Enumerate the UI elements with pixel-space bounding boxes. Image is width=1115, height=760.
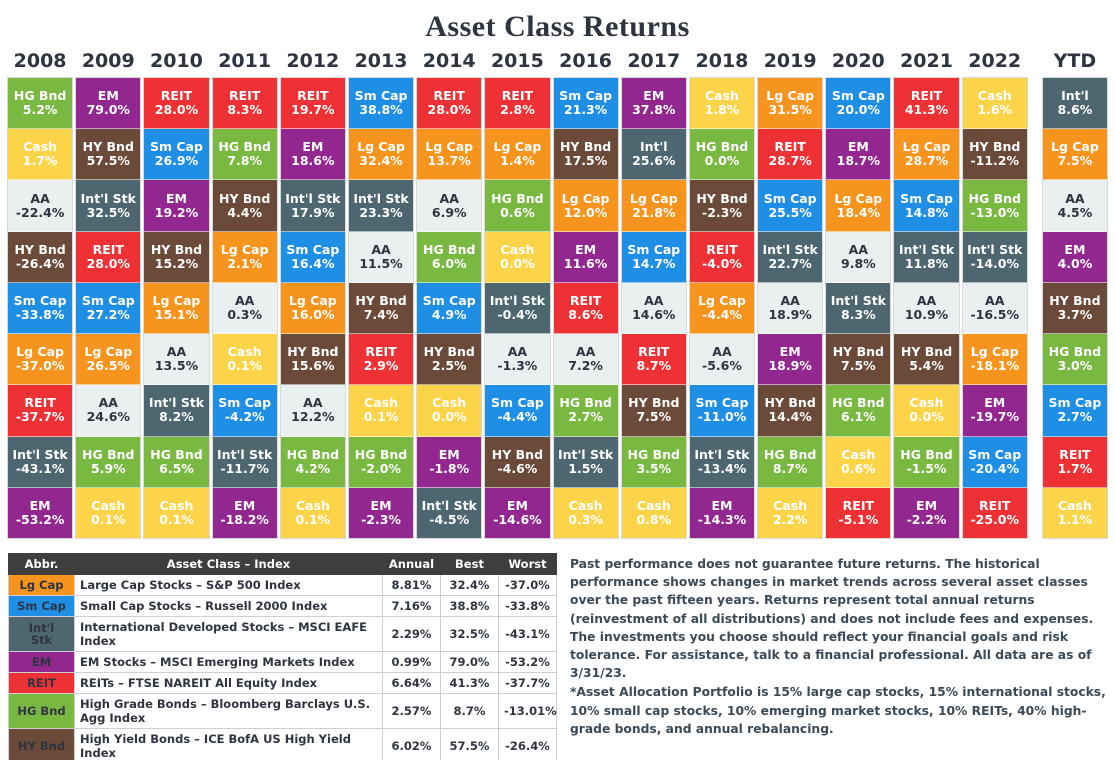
cell-2019-rank-3[interactable]: Sm Cap25.5% — [758, 180, 822, 231]
cell-value: 16.4% — [291, 257, 334, 271]
cell-2020-rank-3[interactable]: Lg Cap18.4% — [826, 180, 890, 231]
cell-value: -19.7% — [970, 410, 1019, 424]
cell-2013-rank-8[interactable]: HG Bnd-2.0% — [349, 437, 413, 488]
cell-2018-rank-4[interactable]: REIT-4.0% — [690, 232, 754, 283]
cell-2016-rank-5[interactable]: REIT8.6% — [554, 283, 618, 334]
cell-2022-rank-3[interactable]: HG Bnd-13.0% — [963, 180, 1027, 231]
cell-2021-rank-6[interactable]: HY Bnd5.4% — [894, 334, 958, 385]
cell-2015-rank-9[interactable]: EM-14.6% — [485, 488, 549, 538]
cell-value: 26.5% — [87, 359, 130, 373]
cell-2013-rank-1[interactable]: Sm Cap38.8% — [349, 78, 413, 129]
cell-abbr: HY Bnd — [1049, 294, 1100, 308]
cell-2015-rank-8[interactable]: HY Bnd-4.6% — [485, 437, 549, 488]
cell-abbr: REIT — [434, 89, 465, 103]
legend-asset-name: High Grade Bonds – Bloomberg Barclays U.… — [75, 694, 383, 729]
cell-abbr: Int'l Stk — [967, 243, 1022, 257]
cell-2009-rank-7[interactable]: AA24.6% — [76, 385, 140, 436]
year-header-2022: 2022 — [961, 50, 1029, 72]
cell-2010-rank-7[interactable]: Int'l Stk8.2% — [144, 385, 208, 436]
cell-2015-rank-5[interactable]: Int'l Stk-0.4% — [485, 283, 549, 334]
cell-abbr: Cash — [773, 499, 807, 513]
cell-2018-rank-3[interactable]: HY Bnd-2.3% — [690, 180, 754, 231]
cell-abbr: HG Bnd — [355, 448, 407, 462]
cell-abbr: HG Bnd — [559, 396, 611, 410]
cell-value: 26.9% — [155, 154, 198, 168]
cell-value: -4.6% — [497, 462, 537, 476]
cell-2018-rank-2[interactable]: HG Bnd0.0% — [690, 129, 754, 180]
cell-2009-rank-6[interactable]: Lg Cap26.5% — [76, 334, 140, 385]
cell-2012-rank-1[interactable]: REIT19.7% — [281, 78, 345, 129]
cell-value: -37.0% — [16, 359, 65, 373]
cell-2020-rank-9[interactable]: REIT-5.1% — [826, 488, 890, 538]
legend-best-return: 79.0% — [441, 652, 499, 673]
cell-2022-rank-6[interactable]: Lg Cap-18.1% — [963, 334, 1027, 385]
cell-2022-rank-5[interactable]: AA-16.5% — [963, 283, 1027, 334]
cell-2018-rank-7[interactable]: Sm Cap-11.0% — [690, 385, 754, 436]
cell-2010-rank-8[interactable]: HG Bnd6.5% — [144, 437, 208, 488]
year-header-2021: 2021 — [892, 50, 960, 72]
cell-2016-rank-9[interactable]: Cash0.3% — [554, 488, 618, 538]
cell-2020-rank-8[interactable]: Cash0.6% — [826, 437, 890, 488]
legend-row: Sm CapSmall Cap Stocks – Russell 2000 In… — [9, 596, 557, 617]
cell-value: 8.7% — [773, 462, 808, 476]
cell-abbr: Int'l Stk — [81, 192, 136, 206]
cell-2016-rank-3[interactable]: Lg Cap12.0% — [554, 180, 618, 231]
legend-header-best: Best — [441, 554, 499, 575]
cell-2011-rank-5[interactable]: AA0.3% — [213, 283, 277, 334]
cell-2008-rank-8[interactable]: Int'l Stk-43.1% — [8, 437, 72, 488]
cell-abbr: EM — [98, 89, 119, 103]
cell-value: 15.6% — [291, 359, 334, 373]
cell-abbr: Sm Cap — [764, 192, 817, 206]
cell-value: 17.9% — [291, 206, 334, 220]
cell-YTD-rank-6[interactable]: HG Bnd3.0% — [1043, 334, 1107, 385]
legend-asset-name: EM Stocks – MSCI Emerging Markets Index — [75, 652, 383, 673]
cell-value: 1.7% — [1058, 462, 1093, 476]
cell-value: 8.3% — [227, 103, 262, 117]
cell-value: 4.9% — [432, 308, 467, 322]
grid-column-2020: Sm Cap20.0%EM18.7%Lg Cap18.4%AA9.8%Int'l… — [825, 77, 891, 539]
cell-abbr: HY Bnd — [355, 294, 406, 308]
cell-2017-rank-9[interactable]: Cash0.8% — [622, 488, 686, 538]
cell-2009-rank-3[interactable]: Int'l Stk32.5% — [76, 180, 140, 231]
cell-2010-rank-9[interactable]: Cash0.1% — [144, 488, 208, 538]
cell-value: 4.4% — [227, 206, 262, 220]
cell-2012-rank-5[interactable]: Lg Cap16.0% — [281, 283, 345, 334]
cell-2010-rank-1[interactable]: REIT28.0% — [144, 78, 208, 129]
cell-abbr: Int'l Stk — [353, 192, 408, 206]
cell-abbr: REIT — [24, 396, 55, 410]
grid-column-2016: Sm Cap21.3%HY Bnd17.5%Lg Cap12.0%EM11.6%… — [553, 77, 619, 539]
cell-value: 28.0% — [155, 103, 198, 117]
cell-2010-rank-4[interactable]: HY Bnd15.2% — [144, 232, 208, 283]
cell-abbr: EM — [1064, 243, 1085, 257]
cell-2019-rank-2[interactable]: REIT28.7% — [758, 129, 822, 180]
cell-2013-rank-4[interactable]: AA11.5% — [349, 232, 413, 283]
cell-value: 2.7% — [1058, 410, 1093, 424]
cell-abbr: Lg Cap — [1051, 140, 1099, 154]
cell-value: 3.0% — [1058, 359, 1093, 373]
cell-2012-rank-6[interactable]: HY Bnd15.6% — [281, 334, 345, 385]
cell-2009-rank-9[interactable]: Cash0.1% — [76, 488, 140, 538]
cell-2011-rank-3[interactable]: HY Bnd4.4% — [213, 180, 277, 231]
cell-2012-rank-4[interactable]: Sm Cap16.4% — [281, 232, 345, 283]
cell-2012-rank-9[interactable]: Cash0.1% — [281, 488, 345, 538]
cell-value: 0.1% — [296, 513, 331, 527]
cell-value: 31.5% — [768, 103, 811, 117]
cell-2017-rank-3[interactable]: Lg Cap21.8% — [622, 180, 686, 231]
cell-value: -16.5% — [970, 308, 1019, 322]
year-header-2018: 2018 — [688, 50, 756, 72]
cell-2019-rank-9[interactable]: Cash2.2% — [758, 488, 822, 538]
cell-2018-rank-1[interactable]: Cash1.8% — [690, 78, 754, 129]
cell-2020-rank-4[interactable]: AA9.8% — [826, 232, 890, 283]
cell-2016-rank-7[interactable]: HG Bnd2.7% — [554, 385, 618, 436]
cell-2020-rank-1[interactable]: Sm Cap20.0% — [826, 78, 890, 129]
cell-2009-rank-8[interactable]: HG Bnd5.9% — [76, 437, 140, 488]
cell-abbr: Sm Cap — [900, 192, 953, 206]
cell-abbr: Cash — [910, 396, 944, 410]
cell-2017-rank-7[interactable]: HY Bnd7.5% — [622, 385, 686, 436]
cell-value: 14.7% — [632, 257, 675, 271]
cell-2020-rank-5[interactable]: Int'l Stk8.3% — [826, 283, 890, 334]
cell-abbr: Sm Cap — [355, 89, 408, 103]
cell-2021-rank-7[interactable]: Cash0.0% — [894, 385, 958, 436]
cell-abbr: AA — [303, 396, 322, 410]
cell-value: -4.5% — [429, 513, 469, 527]
cell-2021-rank-5[interactable]: AA10.9% — [894, 283, 958, 334]
legend-annual-return: 0.99% — [383, 652, 441, 673]
cell-value: 5.9% — [91, 462, 126, 476]
cell-value: 15.2% — [155, 257, 198, 271]
cell-2018-rank-5[interactable]: Lg Cap-4.4% — [690, 283, 754, 334]
cell-abbr: HG Bnd — [82, 448, 134, 462]
cell-2020-rank-6[interactable]: HY Bnd7.5% — [826, 334, 890, 385]
cell-2019-rank-1[interactable]: Lg Cap31.5% — [758, 78, 822, 129]
legend-header-annual: Annual — [383, 554, 441, 575]
cell-value: 32.4% — [359, 154, 402, 168]
disclaimer-paragraph-1: Past performance does not guarantee futu… — [570, 555, 1107, 682]
cell-2013-rank-6[interactable]: REIT2.9% — [349, 334, 413, 385]
cell-2018-rank-6[interactable]: AA-5.6% — [690, 334, 754, 385]
cell-2021-rank-3[interactable]: Sm Cap14.8% — [894, 180, 958, 231]
cell-value: -14.6% — [493, 513, 542, 527]
cell-value: 7.5% — [1058, 154, 1093, 168]
cell-value: 2.9% — [364, 359, 399, 373]
cell-2011-rank-4[interactable]: Lg Cap2.1% — [213, 232, 277, 283]
cell-2012-rank-2[interactable]: EM18.6% — [281, 129, 345, 180]
year-header-2015: 2015 — [483, 50, 551, 72]
cell-2015-rank-6[interactable]: AA-1.3% — [485, 334, 549, 385]
cell-2008-rank-5[interactable]: Sm Cap-33.8% — [8, 283, 72, 334]
cell-YTD-rank-2[interactable]: Lg Cap7.5% — [1043, 129, 1107, 180]
cell-value: -20.4% — [970, 462, 1019, 476]
cell-2014-rank-2[interactable]: Lg Cap13.7% — [417, 129, 481, 180]
cell-value: -4.2% — [225, 410, 265, 424]
cell-abbr: HG Bnd — [696, 140, 748, 154]
legend-best-return: 32.5% — [441, 617, 499, 652]
cell-2017-rank-4[interactable]: Sm Cap14.7% — [622, 232, 686, 283]
cell-2011-rank-8[interactable]: Int'l Stk-11.7% — [213, 437, 277, 488]
cell-abbr: REIT — [93, 243, 124, 257]
cell-2021-rank-9[interactable]: EM-2.2% — [894, 488, 958, 538]
cell-2009-rank-4[interactable]: REIT28.0% — [76, 232, 140, 283]
cell-2009-rank-5[interactable]: Sm Cap27.2% — [76, 283, 140, 334]
cell-2008-rank-1[interactable]: HG Bnd5.2% — [8, 78, 72, 129]
cell-value: 24.6% — [87, 410, 130, 424]
cell-value: 32.5% — [87, 206, 130, 220]
cell-abbr: HG Bnd — [900, 448, 952, 462]
cell-2015-rank-1[interactable]: REIT2.8% — [485, 78, 549, 129]
cell-2015-rank-7[interactable]: Sm Cap-4.4% — [485, 385, 549, 436]
cell-2009-rank-2[interactable]: HY Bnd57.5% — [76, 129, 140, 180]
cell-abbr: Lg Cap — [221, 243, 269, 257]
cell-2019-rank-4[interactable]: Int'l Stk22.7% — [758, 232, 822, 283]
cell-YTD-rank-1[interactable]: Int'l8.6% — [1043, 78, 1107, 129]
cell-2016-rank-8[interactable]: Int'l Stk1.5% — [554, 437, 618, 488]
cell-value: -26.4% — [16, 257, 65, 271]
cell-YTD-rank-7[interactable]: Sm Cap2.7% — [1043, 385, 1107, 436]
cell-value: 3.7% — [1058, 308, 1093, 322]
cell-abbr: Lg Cap — [562, 192, 610, 206]
cell-value: -0.4% — [497, 308, 537, 322]
cell-value: 4.2% — [296, 462, 331, 476]
cell-value: -4.0% — [702, 257, 742, 271]
cell-value: 0.3% — [568, 513, 603, 527]
cell-abbr: HY Bnd — [628, 396, 679, 410]
cell-abbr: REIT — [911, 89, 942, 103]
cell-2015-rank-4[interactable]: Cash0.0% — [485, 232, 549, 283]
cell-2012-rank-7[interactable]: AA12.2% — [281, 385, 345, 436]
cell-value: 2.5% — [432, 359, 467, 373]
cell-2020-rank-7[interactable]: HG Bnd6.1% — [826, 385, 890, 436]
cell-2022-rank-1[interactable]: Cash1.6% — [963, 78, 1027, 129]
cell-abbr: Sm Cap — [423, 294, 476, 308]
cell-2013-rank-5[interactable]: HY Bnd7.4% — [349, 283, 413, 334]
cell-abbr: HG Bnd — [1049, 345, 1101, 359]
grid-column-2014: REIT28.0%Lg Cap13.7%AA6.9%HG Bnd6.0%Sm C… — [416, 77, 482, 539]
cell-2008-rank-2[interactable]: Cash1.7% — [8, 129, 72, 180]
cell-2016-rank-2[interactable]: HY Bnd17.5% — [554, 129, 618, 180]
cell-abbr: HY Bnd — [696, 192, 747, 206]
cell-abbr: HG Bnd — [14, 89, 66, 103]
cell-2014-rank-3[interactable]: AA6.9% — [417, 180, 481, 231]
cell-2015-rank-2[interactable]: Lg Cap1.4% — [485, 129, 549, 180]
cell-abbr: EM — [984, 396, 1005, 410]
year-header-2012: 2012 — [279, 50, 347, 72]
cell-2015-rank-3[interactable]: HG Bnd0.6% — [485, 180, 549, 231]
legend-row: REITREITs – FTSE NAREIT All Equity Index… — [9, 673, 557, 694]
cell-value: -22.4% — [16, 206, 65, 220]
cell-2011-rank-9[interactable]: EM-18.2% — [213, 488, 277, 538]
cell-value: -18.1% — [970, 359, 1019, 373]
cell-2021-rank-8[interactable]: HG Bnd-1.5% — [894, 437, 958, 488]
cell-abbr: EM — [30, 499, 51, 513]
cell-YTD-rank-4[interactable]: EM4.0% — [1043, 232, 1107, 283]
cell-abbr: EM — [848, 140, 869, 154]
cell-2011-rank-2[interactable]: HG Bnd7.8% — [213, 129, 277, 180]
cell-2019-rank-8[interactable]: HG Bnd8.7% — [758, 437, 822, 488]
cell-2010-rank-6[interactable]: AA13.5% — [144, 334, 208, 385]
cell-value: 19.7% — [291, 103, 334, 117]
cell-abbr: REIT — [979, 499, 1010, 513]
cell-abbr: HY Bnd — [14, 243, 65, 257]
cell-2018-rank-9[interactable]: EM-14.3% — [690, 488, 754, 538]
cell-2009-rank-1[interactable]: EM79.0% — [76, 78, 140, 129]
cell-value: 17.5% — [564, 154, 607, 168]
cell-value: -11.2% — [970, 154, 1019, 168]
legend-abbr-badge: HY Bnd — [9, 729, 75, 760]
cell-abbr: Sm Cap — [150, 140, 203, 154]
cell-value: 2.1% — [227, 257, 262, 271]
cell-2008-rank-7[interactable]: REIT-37.7% — [8, 385, 72, 436]
grid-column-2010: REIT28.0%Sm Cap26.9%EM19.2%HY Bnd15.2%Lg… — [143, 77, 209, 539]
cell-2010-rank-3[interactable]: EM19.2% — [144, 180, 208, 231]
cell-value: 1.6% — [977, 103, 1012, 117]
legend-header-asset-class: Asset Class – Index — [75, 554, 383, 575]
legend-row: Lg CapLarge Cap Stocks – S&P 500 Index8.… — [9, 575, 557, 596]
cell-value: -4.4% — [702, 308, 742, 322]
cell-abbr: AA — [849, 243, 868, 257]
grid-column-2022: Cash1.6%HY Bnd-11.2%HG Bnd-13.0%Int'l St… — [962, 77, 1028, 539]
cell-abbr: HY Bnd — [492, 448, 543, 462]
grid-column-2015: REIT2.8%Lg Cap1.4%HG Bnd0.6%Cash0.0%Int'… — [484, 77, 550, 539]
cell-value: -33.8% — [16, 308, 65, 322]
cell-2008-rank-4[interactable]: HY Bnd-26.4% — [8, 232, 72, 283]
cell-abbr: HY Bnd — [765, 396, 816, 410]
cell-2019-rank-6[interactable]: EM18.9% — [758, 334, 822, 385]
cell-value: 18.7% — [837, 154, 880, 168]
cell-2013-rank-7[interactable]: Cash0.1% — [349, 385, 413, 436]
cell-2008-rank-3[interactable]: AA-22.4% — [8, 180, 72, 231]
asset-class-legend-table: Abbr. Asset Class – Index Annual Best Wo… — [8, 553, 557, 760]
asset-class-returns-page: Asset Class Returns 20082009201020112012… — [0, 0, 1115, 760]
cell-abbr: EM — [780, 345, 801, 359]
cell-abbr: HY Bnd — [151, 243, 202, 257]
cell-2016-rank-4[interactable]: EM11.6% — [554, 232, 618, 283]
cell-2018-rank-8[interactable]: Int'l Stk-13.4% — [690, 437, 754, 488]
year-header-2009: 2009 — [74, 50, 142, 72]
cell-2014-rank-1[interactable]: REIT28.0% — [417, 78, 481, 129]
cell-2010-rank-2[interactable]: Sm Cap26.9% — [144, 129, 208, 180]
legend-abbr-badge: Sm Cap — [9, 596, 75, 617]
cell-abbr: Cash — [569, 499, 603, 513]
cell-2014-rank-7[interactable]: Cash0.0% — [417, 385, 481, 436]
cell-abbr: EM — [916, 499, 937, 513]
cell-value: 27.2% — [87, 308, 130, 322]
cell-value: 25.6% — [632, 154, 675, 168]
cell-value: 11.5% — [359, 257, 402, 271]
cell-2014-rank-6[interactable]: HY Bnd2.5% — [417, 334, 481, 385]
cell-2016-rank-6[interactable]: AA7.2% — [554, 334, 618, 385]
cell-value: 21.3% — [564, 103, 607, 117]
cell-2013-rank-2[interactable]: Lg Cap32.4% — [349, 129, 413, 180]
cell-abbr: Int'l Stk — [422, 499, 477, 513]
cell-2020-rank-2[interactable]: EM18.7% — [826, 129, 890, 180]
cell-2017-rank-5[interactable]: AA14.6% — [622, 283, 686, 334]
cell-value: -13.0% — [970, 206, 1019, 220]
cell-2021-rank-2[interactable]: Lg Cap28.7% — [894, 129, 958, 180]
cell-abbr: Cash — [500, 243, 534, 257]
cell-value: 0.8% — [636, 513, 671, 527]
cell-2013-rank-9[interactable]: EM-2.3% — [349, 488, 413, 538]
cell-value: 8.3% — [841, 308, 876, 322]
cell-2019-rank-5[interactable]: AA18.9% — [758, 283, 822, 334]
cell-2014-rank-4[interactable]: HG Bnd6.0% — [417, 232, 481, 283]
cell-abbr: Lg Cap — [357, 140, 405, 154]
cell-2022-rank-7[interactable]: EM-19.7% — [963, 385, 1027, 436]
cell-abbr: Int'l Stk — [149, 396, 204, 410]
cell-abbr: AA — [712, 345, 731, 359]
cell-value: 5.2% — [23, 103, 58, 117]
cell-value: -4.4% — [497, 410, 537, 424]
cell-value: -2.2% — [907, 513, 947, 527]
cell-2012-rank-3[interactable]: Int'l Stk17.9% — [281, 180, 345, 231]
cell-YTD-rank-8[interactable]: REIT1.7% — [1043, 437, 1107, 488]
cell-2008-rank-9[interactable]: EM-53.2% — [8, 488, 72, 538]
cell-2011-rank-7[interactable]: Sm Cap-4.2% — [213, 385, 277, 436]
cell-2021-rank-1[interactable]: REIT41.3% — [894, 78, 958, 129]
cell-abbr: Sm Cap — [968, 448, 1021, 462]
cell-2013-rank-3[interactable]: Int'l Stk23.3% — [349, 180, 413, 231]
cell-value: 28.7% — [768, 154, 811, 168]
cell-YTD-rank-9[interactable]: Cash1.1% — [1043, 488, 1107, 538]
cell-2017-rank-8[interactable]: HG Bnd3.5% — [622, 437, 686, 488]
cell-2010-rank-5[interactable]: Lg Cap15.1% — [144, 283, 208, 334]
cell-abbr: Cash — [841, 448, 875, 462]
legend-abbr-badge: REIT — [9, 673, 75, 694]
grid-column-gap — [1029, 77, 1041, 539]
returns-heatmap-grid: HG Bnd5.2%Cash1.7%AA-22.4%HY Bnd-26.4%Sm… — [0, 77, 1115, 539]
cell-2008-rank-6[interactable]: Lg Cap-37.0% — [8, 334, 72, 385]
cell-value: 0.6% — [500, 206, 535, 220]
cell-2014-rank-5[interactable]: Sm Cap4.9% — [417, 283, 481, 334]
cell-abbr: EM — [234, 499, 255, 513]
cell-2014-rank-9[interactable]: Int'l Stk-4.5% — [417, 488, 481, 538]
cell-2022-rank-2[interactable]: HY Bnd-11.2% — [963, 129, 1027, 180]
cell-2017-rank-2[interactable]: Int'l25.6% — [622, 129, 686, 180]
cell-abbr: Lg Cap — [289, 294, 337, 308]
cell-abbr: Lg Cap — [493, 140, 541, 154]
cell-2011-rank-1[interactable]: REIT8.3% — [213, 78, 277, 129]
legend-annual-return: 6.64% — [383, 673, 441, 694]
cell-2022-rank-4[interactable]: Int'l Stk-14.0% — [963, 232, 1027, 283]
cell-2012-rank-8[interactable]: HG Bnd4.2% — [281, 437, 345, 488]
grid-column-2008: HG Bnd5.2%Cash1.7%AA-22.4%HY Bnd-26.4%Sm… — [7, 77, 73, 539]
cell-2019-rank-7[interactable]: HY Bnd14.4% — [758, 385, 822, 436]
cell-abbr: HG Bnd — [491, 192, 543, 206]
legend-abbr-badge: HG Bnd — [9, 694, 75, 729]
cell-2022-rank-9[interactable]: REIT-25.0% — [963, 488, 1027, 538]
grid-column-2012: REIT19.7%EM18.6%Int'l Stk17.9%Sm Cap16.4… — [280, 77, 346, 539]
cell-abbr: REIT — [502, 89, 533, 103]
cell-2021-rank-4[interactable]: Int'l Stk11.8% — [894, 232, 958, 283]
cell-YTD-rank-3[interactable]: AA4.5% — [1043, 180, 1107, 231]
cell-value: 7.5% — [841, 359, 876, 373]
cell-abbr: Lg Cap — [903, 140, 951, 154]
cell-2017-rank-1[interactable]: EM37.8% — [622, 78, 686, 129]
cell-value: 13.7% — [428, 154, 471, 168]
cell-2022-rank-8[interactable]: Sm Cap-20.4% — [963, 437, 1027, 488]
cell-YTD-rank-5[interactable]: HY Bnd3.7% — [1043, 283, 1107, 334]
cell-2011-rank-6[interactable]: Cash0.1% — [213, 334, 277, 385]
legend-asset-name: Large Cap Stocks – S&P 500 Index — [75, 575, 383, 596]
cell-2014-rank-8[interactable]: EM-1.8% — [417, 437, 481, 488]
cell-value: 25.5% — [768, 206, 811, 220]
cell-2017-rank-6[interactable]: REIT8.7% — [622, 334, 686, 385]
cell-2016-rank-1[interactable]: Sm Cap21.3% — [554, 78, 618, 129]
legend-worst-return: -53.2% — [499, 652, 557, 673]
